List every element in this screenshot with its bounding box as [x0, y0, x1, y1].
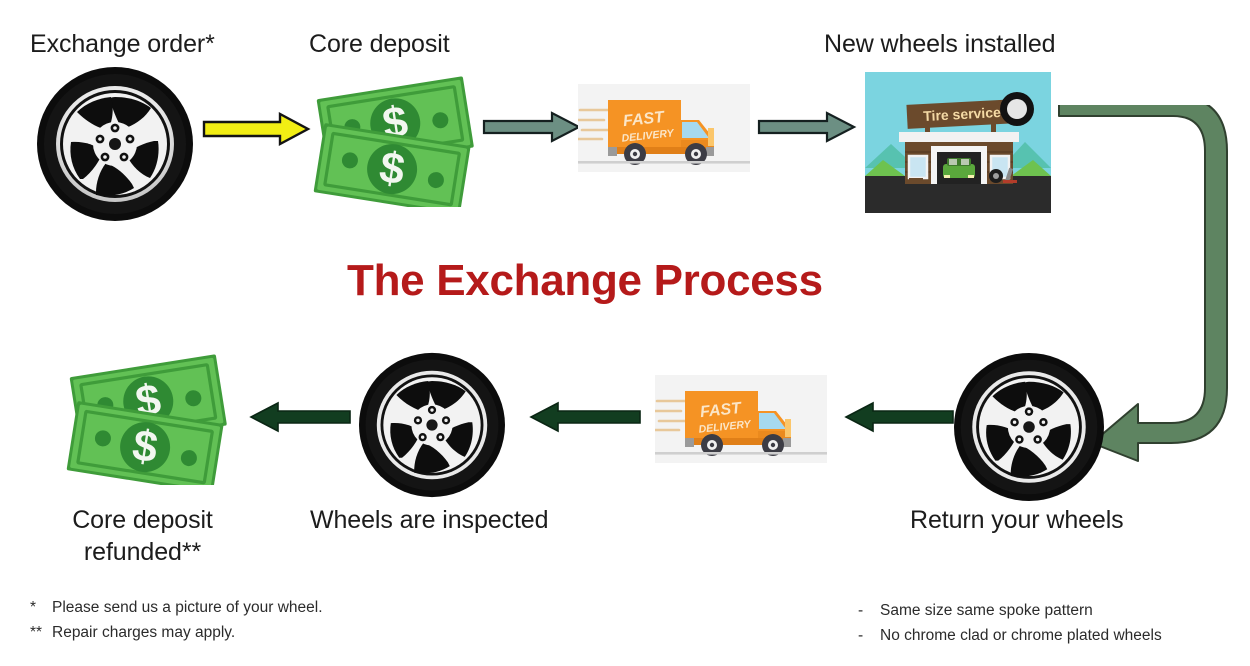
- footnote-left-1-marker: *: [30, 595, 52, 620]
- footnote-left-2-text: Repair charges may apply.: [52, 624, 235, 641]
- label-deposit-refunded: Core deposit refunded**: [35, 504, 250, 568]
- alloy-wheel-icon-return: [953, 352, 1105, 502]
- exchange-process-diagram: Exchange order* Core deposit New wheels …: [0, 0, 1250, 666]
- arrow-van-to-inspection: [528, 400, 642, 434]
- arrow-return-to-van: [843, 400, 955, 434]
- footnote-left-2: **Repair charges may apply.: [30, 620, 235, 645]
- arrow-inspection-to-refund: [248, 400, 352, 434]
- footnote-right-2-text: No chrome clad or chrome plated wheels: [880, 627, 1162, 644]
- footnote-right-1: -Same size same spoke pattern: [858, 598, 1093, 623]
- footnote-right-2: -No chrome clad or chrome plated wheels: [858, 623, 1162, 648]
- arrow-shipping-to-shop: [757, 110, 857, 144]
- footnote-right-1-text: Same size same spoke pattern: [880, 602, 1093, 619]
- alloy-wheel-icon: [36, 66, 194, 222]
- label-core-deposit: Core deposit: [309, 28, 450, 60]
- delivery-van-icon: FAST DELIVERY: [578, 84, 750, 172]
- label-exchange-order: Exchange order*: [30, 28, 215, 60]
- footnote-left-2-marker: **: [30, 620, 52, 645]
- label-wheels-inspected: Wheels are inspected: [310, 504, 548, 536]
- money-bills-icon-refund: $ $: [60, 350, 235, 485]
- delivery-van-icon-return: FAST DELIVERY: [655, 375, 827, 463]
- arrow-deposit-to-shipping: [482, 110, 582, 144]
- label-new-wheels-installed: New wheels installed: [824, 28, 1055, 60]
- footnote-left-1: *Please send us a picture of your wheel.: [30, 595, 323, 620]
- label-deposit-refunded-line2: refunded**: [84, 538, 201, 566]
- label-return-your-wheels: Return your wheels: [910, 504, 1124, 536]
- footnote-left-1-text: Please send us a picture of your wheel.: [52, 599, 323, 616]
- footnote-right-2-marker: -: [858, 623, 880, 648]
- alloy-wheel-icon-inspected: [358, 352, 506, 498]
- tire-service-shop-icon: Tire service: [865, 72, 1051, 213]
- money-bills-icon: $ $: [307, 72, 482, 207]
- page-title: The Exchange Process: [347, 256, 823, 306]
- footnote-right-1-marker: -: [858, 598, 880, 623]
- label-deposit-refunded-line1: Core deposit: [72, 506, 213, 534]
- arrow-order-to-deposit: [202, 112, 312, 146]
